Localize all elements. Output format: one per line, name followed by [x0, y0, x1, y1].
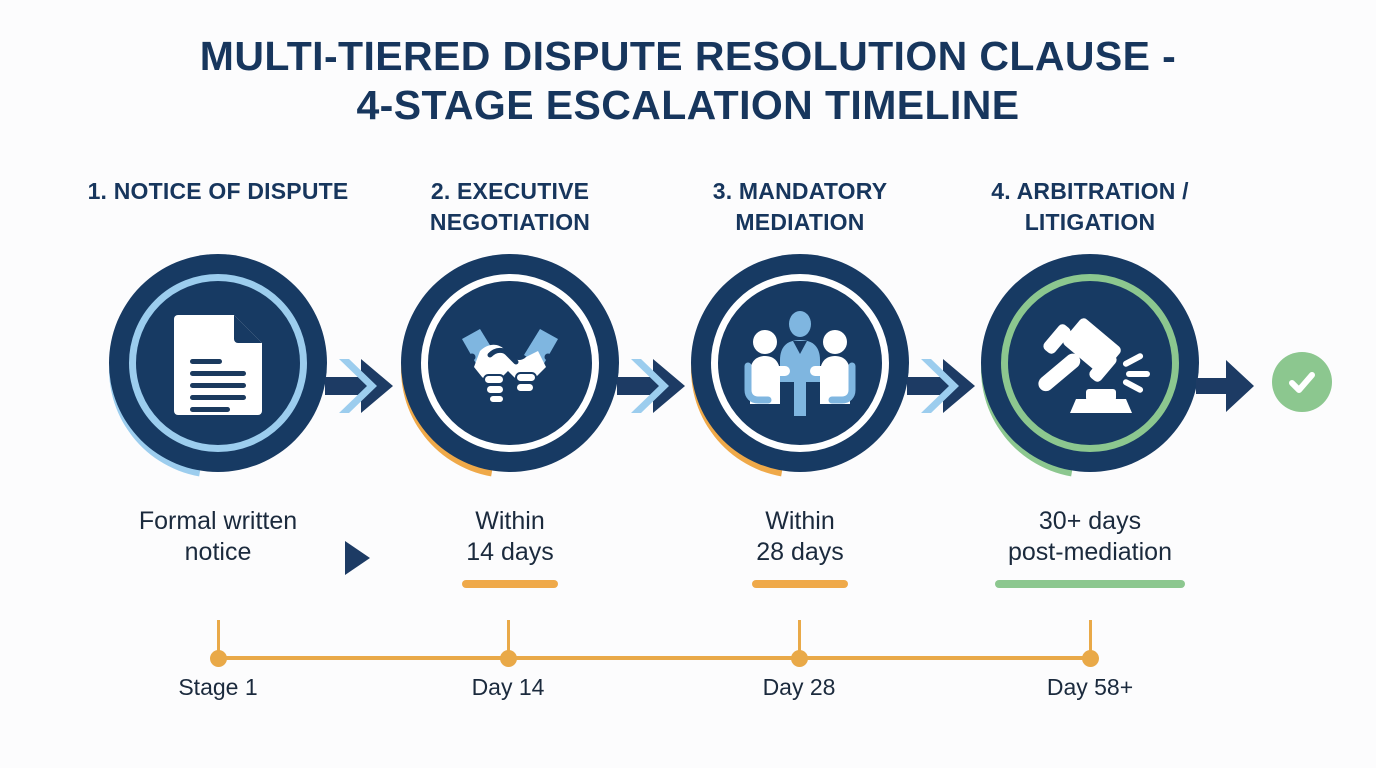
arrow-right-icon-2 [617, 355, 687, 417]
mediation-table-icon [711, 274, 889, 452]
handshake-icon [421, 274, 599, 452]
timeline-dot-1 [210, 650, 227, 667]
timeline-tick-4 [1089, 620, 1092, 654]
stage-3-description: Within 28 days [655, 506, 945, 568]
stage-3[interactable]: 3. MANDATORY MEDIATION [655, 176, 945, 588]
stage-2[interactable]: 2. EXECUTIVE NEGOTIATION [365, 176, 655, 588]
stage-2-description: Within 14 days [365, 506, 655, 568]
page-title: MULTI-TIERED DISPUTE RESOLUTION CLAUSE -… [0, 32, 1376, 130]
stage-4-description: 30+ days post-mediation [945, 506, 1235, 568]
stage-2-badge[interactable] [395, 254, 625, 484]
timeline-label-3: Day 28 [699, 672, 899, 702]
stage-2-desc-line-2: 14 days [365, 537, 655, 568]
timeline-tick-2 [507, 620, 510, 654]
timeline-dot-3 [791, 650, 808, 667]
timeline-tick-1 [217, 620, 220, 654]
stage-4-badge[interactable] [975, 254, 1205, 484]
stage-3-desc-line-1: Within [655, 506, 945, 537]
stage-3-desc-line-2: 28 days [655, 537, 945, 568]
stage-2-heading: 2. EXECUTIVE NEGOTIATION [365, 176, 655, 240]
document-icon [129, 274, 307, 452]
stage-1-description: Formal written notice [73, 506, 363, 568]
stage-3-heading: 3. MANDATORY MEDIATION [655, 176, 945, 240]
stage-4-desc-line-1: 30+ days [945, 506, 1235, 537]
title-line-1: MULTI-TIERED DISPUTE RESOLUTION CLAUSE - [0, 32, 1376, 81]
timeline-dot-4 [1082, 650, 1099, 667]
timeline-axis [218, 656, 1090, 660]
arrow-right-icon-1 [325, 355, 395, 417]
stage-2-desc-line-1: Within [365, 506, 655, 537]
stage-1-desc-line-1: Formal written [73, 506, 363, 537]
arrow-right-icon-final [1196, 358, 1256, 414]
stage-4-heading: 4. ARBITRATION / LITIGATION [945, 176, 1235, 240]
check-circle-icon [1272, 352, 1332, 412]
escalation-timeline: Stage 1 Day 14 Day 28 Day 58+ [0, 620, 1376, 730]
stage-list: 1. NOTICE OF DISPUTE [0, 176, 1376, 626]
timeline-tick-3 [798, 620, 801, 654]
timeline-label-2: Day 14 [408, 672, 608, 702]
stage-4-desc-line-2: post-mediation [945, 537, 1235, 568]
gavel-icon [1001, 274, 1179, 452]
stage-4-underline [995, 580, 1185, 588]
stage-1-heading: 1. NOTICE OF DISPUTE [73, 176, 363, 240]
stage-1[interactable]: 1. NOTICE OF DISPUTE [73, 176, 363, 588]
stage-1-desc-line-2: notice [73, 537, 363, 568]
stage-3-badge[interactable] [685, 254, 915, 484]
stage-2-underline [462, 580, 558, 588]
timeline-label-4: Day 58+ [990, 672, 1190, 702]
arrow-right-icon-3 [907, 355, 977, 417]
stage-1-badge[interactable] [103, 254, 333, 484]
timeline-label-1: Stage 1 [118, 672, 318, 702]
triangle-right-icon [345, 541, 370, 575]
stage-3-underline [752, 580, 848, 588]
stage-4[interactable]: 4. ARBITRATION / LITIGATION [945, 176, 1235, 588]
timeline-dot-2 [500, 650, 517, 667]
title-line-2: 4-STAGE ESCALATION TIMELINE [0, 81, 1376, 130]
